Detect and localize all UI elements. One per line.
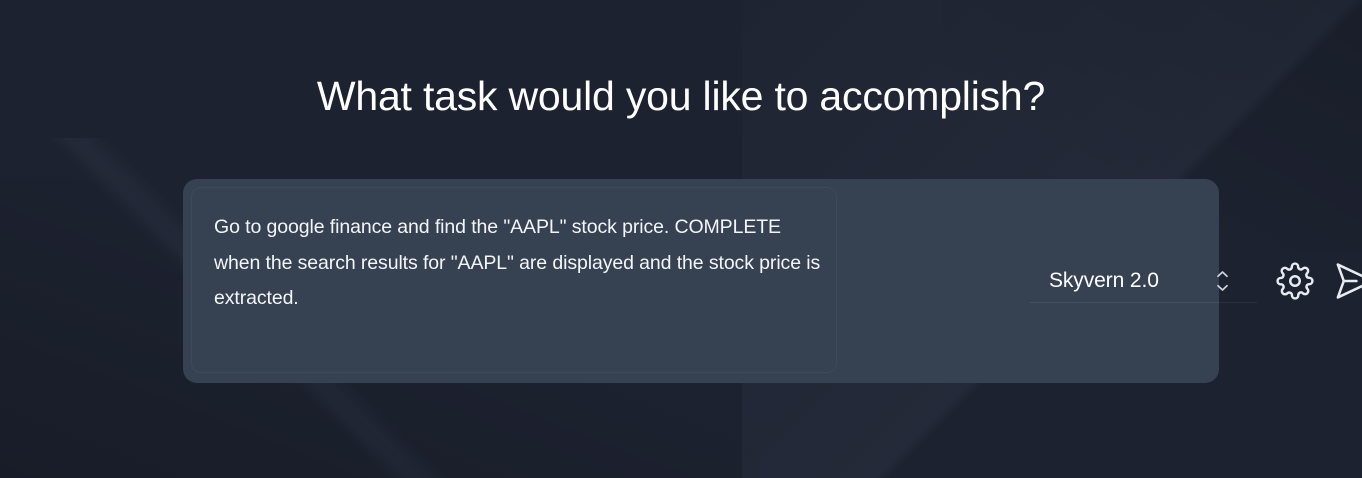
- prompt-card: Skyvern 1.0Skyvern 2.0: [183, 179, 1219, 383]
- page-title: What task would you like to accomplish?: [0, 72, 1362, 121]
- gear-icon: [1276, 262, 1314, 300]
- task-input-container: [191, 187, 837, 373]
- send-button[interactable]: [1333, 261, 1362, 301]
- prompt-card-controls: Skyvern 1.0Skyvern 2.0: [1029, 179, 1362, 383]
- task-input[interactable]: [191, 187, 837, 373]
- send-icon: [1334, 261, 1362, 301]
- model-select-container: Skyvern 1.0Skyvern 2.0: [1029, 259, 1257, 303]
- model-select[interactable]: Skyvern 1.0Skyvern 2.0: [1029, 259, 1257, 302]
- settings-button[interactable]: [1275, 261, 1315, 301]
- prompt-page: What task would you like to accomplish? …: [0, 0, 1362, 478]
